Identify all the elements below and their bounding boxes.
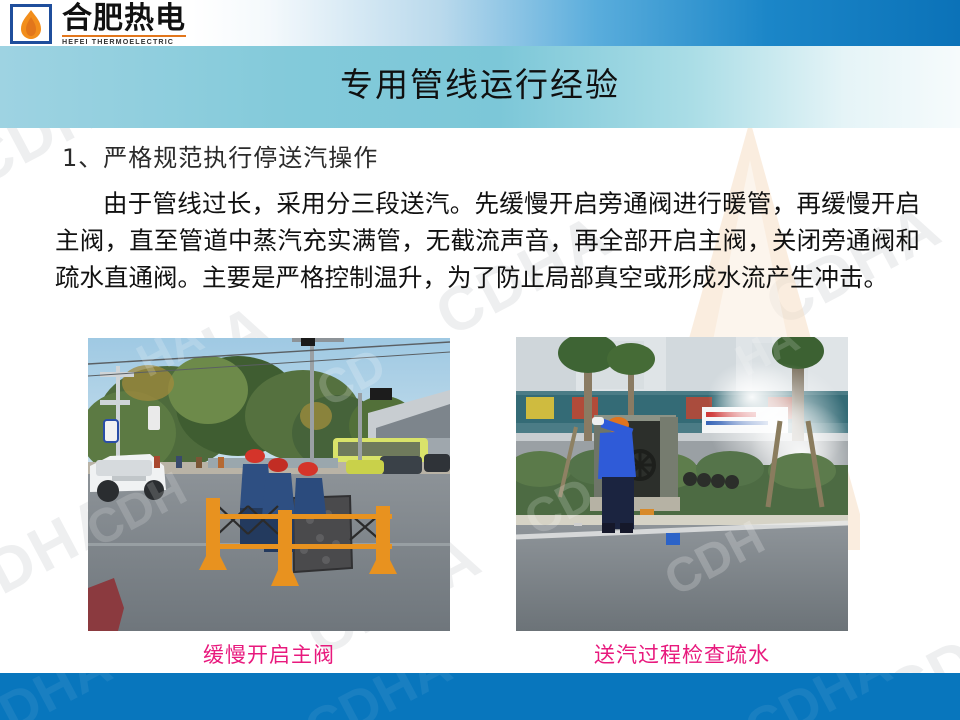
photo-check-drainage-during-steam-supply: CD CDH HA [516, 337, 848, 631]
flame-logo-icon [10, 4, 52, 44]
logo-company-name-cn: 合肥热电 [62, 4, 186, 34]
photo-left-image: CDH CD HA [88, 338, 450, 631]
slide: CDHA CDHA CDHA CDHA CDHA CDHA CDHA CDHA … [0, 0, 960, 720]
section-heading: 1、严格规范执行停送汽操作 [62, 138, 378, 173]
footer-bar: CDHA CDHA CDHA [0, 673, 960, 720]
company-logo: 合肥热电 HEFEI THERMOELECTRIC [10, 4, 186, 46]
caption-right: 送汽过程检查疏水 [516, 639, 848, 669]
photo-right-image: CD CDH HA [516, 337, 848, 631]
page-title: 专用管线运行经验 [0, 64, 960, 106]
photo-slowly-open-main-valve: CDH CD HA [88, 338, 450, 631]
logo-company-name-en: HEFEI THERMOELECTRIC [62, 38, 188, 47]
logo-divider [62, 35, 186, 37]
logo-text-block: 合肥热电 HEFEI THERMOELECTRIC [62, 4, 186, 47]
section-paragraph: 由于管线过长，采用分三段送汽。先缓慢开启旁通阀进行暖管，再缓慢开启主阀，直至管道… [55, 185, 920, 296]
